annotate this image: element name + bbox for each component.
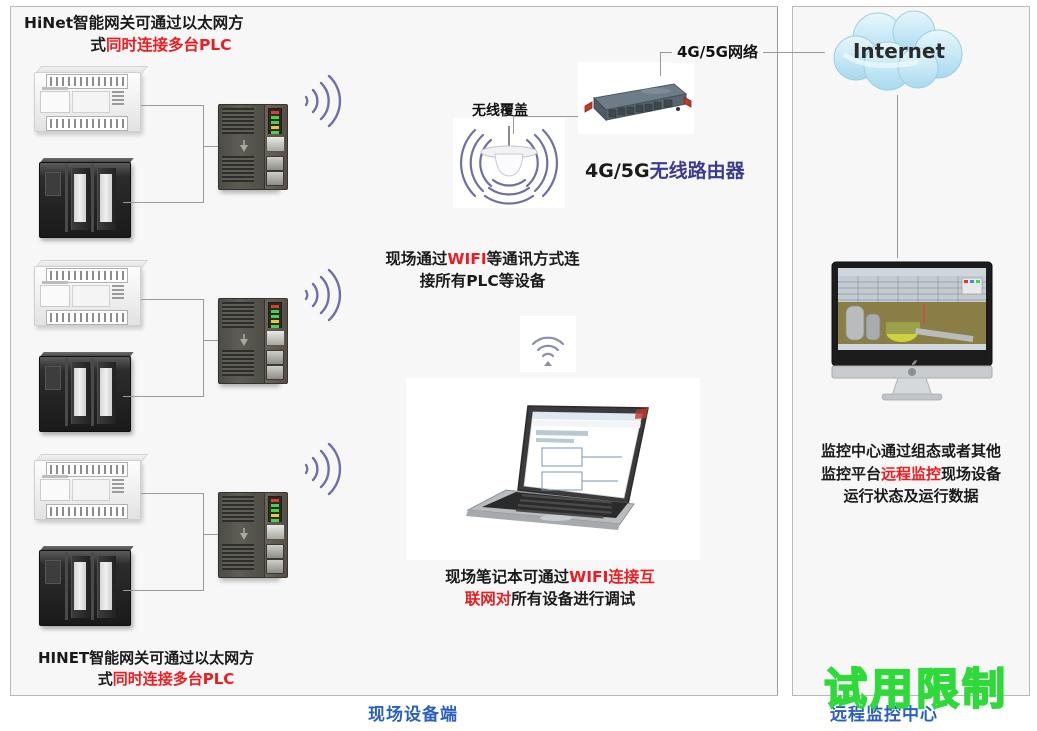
wifi-signal-icon-2 xyxy=(300,264,344,326)
imac-monitor-icon xyxy=(828,258,996,406)
bottom-caption: HINET智能网关可通过以太网方 式同时连接多台PLC xyxy=(16,648,316,691)
cable-3a xyxy=(141,493,203,494)
wifi-signal-icon-1 xyxy=(300,70,344,132)
router-riser-line xyxy=(660,52,661,76)
wifi-signal-icon-3 xyxy=(300,438,344,500)
cable-3c xyxy=(203,534,218,535)
ap-riser-line xyxy=(513,116,514,134)
bottom-caption-line1: HINET智能网关可通过以太网方 xyxy=(16,648,316,669)
hinet-gateway-icon-1 xyxy=(216,100,288,192)
cable-2b xyxy=(203,299,204,340)
internet-cloud-icon: Internet xyxy=(826,10,972,94)
cable-2c xyxy=(203,340,218,341)
wifi-caption: 现场通过WIFI等通讯方式连 接所有PLC等设备 xyxy=(360,248,605,292)
cable-3d xyxy=(123,590,203,591)
plc-white-icon-2 xyxy=(28,260,146,332)
laptop-caption: 现场笔记本可通过WIFI连接互 联网对所有设备进行调试 xyxy=(400,566,700,610)
footer-label-field: 现场设备端 xyxy=(368,700,458,725)
4g-network-label: 4G/5G网络 xyxy=(672,42,763,63)
cable-1b xyxy=(203,105,204,146)
wireless-access-point-icon xyxy=(453,118,565,208)
plc-black-icon-3 xyxy=(35,546,135,628)
cable-1a xyxy=(141,105,203,106)
cloud-label-text: Internet xyxy=(853,39,945,63)
wifi-fan-icon xyxy=(520,316,576,372)
cloud-to-monitor-line xyxy=(897,95,898,258)
cable-3e xyxy=(203,534,204,591)
cable-2e xyxy=(203,340,204,397)
hinet-gateway-icon-2 xyxy=(216,294,288,386)
trial-watermark: 试用限制 xyxy=(824,655,1008,717)
plc-white-icon-3 xyxy=(28,454,146,526)
plc-black-icon-2 xyxy=(35,352,135,434)
hinet-gateway-icon-3 xyxy=(216,488,288,580)
cable-2d xyxy=(123,396,203,397)
remote-caption: 监控中心通过组态或者其他 监控平台远程监控现场设备 运行状态及运行数据 xyxy=(796,440,1026,508)
laptop-icon xyxy=(406,378,700,560)
cable-2a xyxy=(141,299,203,300)
divider-line-field-right xyxy=(777,7,778,695)
top-caption: HiNet智能网关可通过以太网方 式同时连接多台PLC xyxy=(16,12,306,56)
plc-white-icon-1 xyxy=(28,66,146,138)
bottom-caption-line2: 式同时连接多台PLC xyxy=(16,669,316,690)
cable-1e xyxy=(203,146,204,203)
ap-to-router-line xyxy=(513,116,583,117)
top-caption-line2: 式同时连接多台PLC xyxy=(16,34,306,56)
cable-3b xyxy=(203,493,204,534)
4g5g-router-icon xyxy=(578,62,694,134)
cable-1c xyxy=(203,146,218,147)
plc-black-icon-1 xyxy=(35,158,135,240)
top-caption-line1: HiNet智能网关可通过以太网方 xyxy=(24,14,244,32)
ap-label: 无线覆盖 xyxy=(472,102,528,122)
router-label: 4G/5G无线路由器 xyxy=(585,158,745,185)
cable-1d xyxy=(123,202,203,203)
